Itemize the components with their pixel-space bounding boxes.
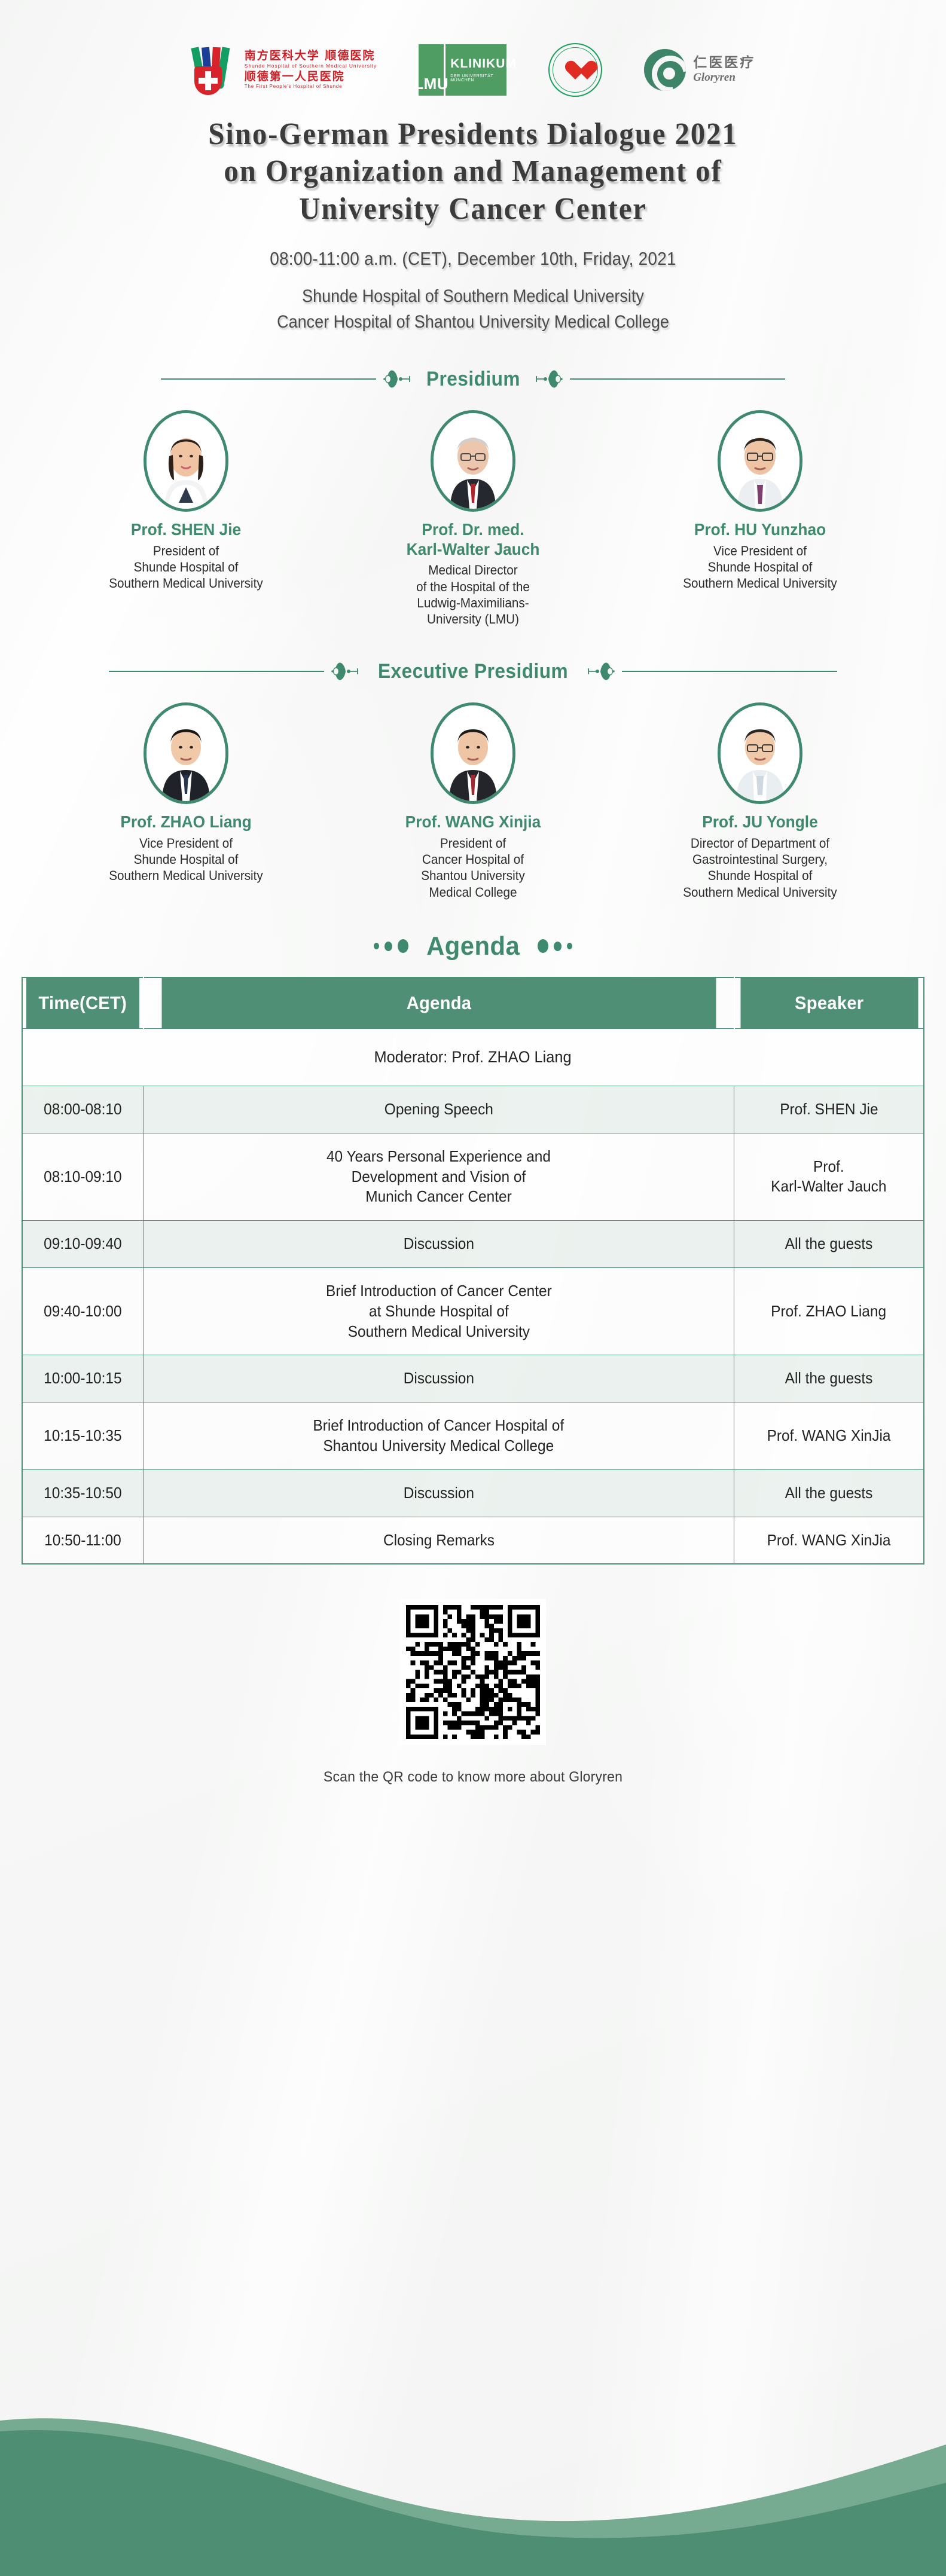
row-agenda: Opening Speech (384, 1099, 493, 1120)
dot-medium-icon (554, 942, 562, 951)
avatar (144, 702, 228, 804)
gloryren-logo: 仁医医疗 Gloryren (644, 49, 755, 91)
agenda-table-body: Moderator: Prof. ZHAO Liang 08:00-08:10 … (22, 1028, 924, 1564)
presidium-section-header: Presidium (57, 361, 889, 397)
agenda-table: Time(CET) Agenda Speaker Moderator: Prof… (22, 977, 924, 1564)
lmu-klinikum-logo: LMU KLINIKUM DER UNIVERSITÄT MÜNCHEN (419, 44, 506, 96)
cell-agenda: Discussion (144, 1355, 734, 1402)
row-agenda: Discussion (403, 1368, 474, 1389)
gloryren-cn-name: 仁医医疗 (693, 56, 755, 71)
row-speaker: Prof. WANG XinJia (767, 1530, 891, 1551)
row-agenda: Brief Introduction of Cancer Hospital of… (313, 1416, 564, 1456)
row-agenda: Closing Remarks (383, 1530, 494, 1551)
cell-agenda: Discussion (144, 1469, 734, 1517)
lmu-abbr: LMU (414, 75, 448, 96)
cell-speaker: Prof. WANG XinJia (734, 1517, 924, 1564)
cell-time: 09:10-09:40 (22, 1221, 144, 1268)
qr-area (0, 1599, 946, 1745)
venue-line-1: Shunde Hospital of Southern Medical Univ… (47, 284, 899, 310)
table-row: 08:10-09:10 40 Years Personal Experience… (22, 1133, 924, 1220)
logo-bar: 南方医科大学 顺德医院 Shunde Hospital of Southern … (0, 0, 946, 108)
person-role: President of Shunde Hospital of Southern… (57, 543, 315, 592)
table-row: 09:10-09:40 Discussion All the guests (22, 1221, 924, 1268)
row-time: 10:50-11:00 (44, 1530, 121, 1551)
qr-code-image (406, 1605, 540, 1739)
event-datetime: 08:00-11:00 a.m. (CET), December 10th, F… (47, 248, 899, 270)
divider-rule-left (109, 671, 324, 672)
table-row: 10:15-10:35 Brief Introduction of Cancer… (22, 1402, 924, 1470)
row-speaker: All the guests (785, 1234, 873, 1254)
row-speaker: Prof. WANG XinJia (767, 1426, 891, 1446)
scan-note: Scan the QR code to know more about Glor… (19, 1769, 927, 1786)
shunde-logo-en-line1: Shunde Hospital of Southern Medical Univ… (245, 63, 377, 69)
person-card: Prof. ZHAO Liang Vice President of Shund… (42, 702, 329, 884)
cell-speaker: Prof. ZHAO Liang (734, 1267, 924, 1355)
table-row: 10:35-10:50 Discussion All the guests (22, 1469, 924, 1517)
title-line-2: on Organization and Management of (79, 153, 867, 190)
divider-rule-right (622, 671, 837, 672)
cell-speaker: All the guests (734, 1355, 924, 1402)
cell-agenda: Closing Remarks (144, 1517, 734, 1564)
column-header-agenda: Agenda (161, 977, 716, 1029)
person-name: Prof. SHEN Jie (57, 520, 315, 539)
heart-icon (563, 58, 587, 82)
person-name: Prof. WANG Xinjia (344, 812, 602, 832)
cell-speaker: All the guests (734, 1221, 924, 1268)
person-role: Director of Department of Gastrointestin… (631, 835, 889, 900)
person-role: Vice President of Shunde Hospital of Sou… (57, 835, 315, 884)
executive-presidium-members: Prof. ZHAO Liang Vice President of Shund… (0, 702, 946, 900)
lmu-subtitle: DER UNIVERSITÄT MÜNCHEN (450, 74, 506, 82)
row-speaker: Prof. SHEN Jie (780, 1099, 878, 1120)
row-time: 10:00-10:15 (44, 1368, 121, 1389)
avatar (144, 410, 228, 512)
table-header-row: Time(CET) Agenda Speaker (22, 977, 924, 1029)
cell-time: 10:50-11:00 (22, 1517, 144, 1564)
shunde-emblem-icon (191, 45, 236, 95)
row-agenda: Brief Introduction of Cancer Center at S… (326, 1281, 552, 1342)
person-name: Prof. ZHAO Liang (57, 812, 315, 832)
row-agenda: 40 Years Personal Experience and Develop… (326, 1147, 551, 1207)
flourish-right-icon (533, 361, 570, 397)
person-name: Prof. HU Yunzhao (631, 520, 889, 539)
person-card: Prof. SHEN Jie President of Shunde Hospi… (42, 410, 329, 591)
moderator-cell: Moderator: Prof. ZHAO Liang (22, 1028, 924, 1086)
cell-agenda: Opening Speech (144, 1086, 734, 1133)
gloryren-en-name: Gloryren (693, 72, 755, 84)
column-header-speaker: Speaker (740, 977, 918, 1029)
lmu-klinikum-word: KLINIKUM (450, 57, 506, 70)
row-speaker: All the guests (785, 1368, 873, 1389)
shunde-logo-en-line2: The First People's Hospital of Shunde (245, 84, 377, 89)
flourish-left-icon (324, 653, 361, 689)
avatar (431, 702, 515, 804)
row-time: 10:35-10:50 (44, 1483, 121, 1504)
bottom-wave-decoration (0, 2361, 946, 2576)
cell-agenda: Brief Introduction of Cancer Center at S… (144, 1267, 734, 1355)
table-row: 09:40-10:00 Brief Introduction of Cancer… (22, 1267, 924, 1355)
venue-line-2: Cancer Hospital of Shantou University Me… (47, 310, 899, 335)
shunde-logo-cn-line1: 南方医科大学 顺德医院 (245, 50, 377, 62)
cell-speaker: Prof. Karl-Walter Jauch (734, 1133, 924, 1220)
dot-small-icon (374, 943, 379, 949)
person-name: Prof. Dr. med. Karl-Walter Jauch (344, 520, 602, 559)
person-card: Prof. JU Yongle Director of Department o… (617, 702, 904, 900)
person-card: Prof. WANG Xinjia President of Cancer Ho… (329, 702, 617, 900)
cell-time: 08:00-08:10 (22, 1086, 144, 1133)
dot-large-icon (538, 939, 548, 953)
row-agenda: Discussion (403, 1483, 474, 1504)
moderator-text: Moderator: Prof. ZHAO Liang (374, 1047, 572, 1068)
flourish-left-icon (376, 361, 413, 397)
avatar (718, 410, 802, 512)
person-card: Prof. HU Yunzhao Vice President of Shund… (617, 410, 904, 591)
row-speaker: All the guests (785, 1483, 873, 1504)
shantou-seal-icon (548, 43, 602, 97)
title-line-1: Sino-German Presidents Dialogue 2021 (79, 116, 867, 153)
event-venues: Shunde Hospital of Southern Medical Univ… (47, 284, 899, 335)
cell-speaker: Prof. SHEN Jie (734, 1086, 924, 1133)
row-speaker: Prof. Karl-Walter Jauch (771, 1157, 886, 1197)
agenda-heading: Agenda (420, 931, 527, 961)
person-role: Medical Director of the Hospital of the … (344, 562, 602, 627)
dot-large-icon (398, 939, 408, 953)
shantou-cancer-hospital-logo (548, 43, 602, 97)
dot-medium-icon (384, 942, 392, 951)
row-time: 08:10-09:10 (44, 1167, 121, 1187)
dots-left (374, 939, 408, 953)
row-agenda: Discussion (403, 1234, 474, 1254)
row-time: 10:15-10:35 (44, 1426, 121, 1446)
dot-small-icon (567, 943, 572, 949)
cell-time: 09:40-10:00 (22, 1267, 144, 1355)
cell-agenda: 40 Years Personal Experience and Develop… (144, 1133, 734, 1220)
cell-speaker: All the guests (734, 1469, 924, 1517)
person-name: Prof. JU Yongle (631, 812, 889, 832)
gloryren-swirl-icon (644, 49, 686, 91)
agenda-section-header: Agenda (0, 931, 946, 961)
agenda-table-wrap: Time(CET) Agenda Speaker Moderator: Prof… (22, 977, 924, 1564)
presidium-heading: Presidium (417, 368, 529, 391)
avatar (718, 702, 802, 804)
person-card: Prof. Dr. med. Karl-Walter Jauch Medical… (329, 410, 617, 627)
cell-speaker: Prof. WANG XinJia (734, 1402, 924, 1470)
title-line-3: University Cancer Center (79, 191, 867, 228)
row-time: 09:10-09:40 (44, 1234, 121, 1254)
column-header-time: Time(CET) (26, 977, 139, 1029)
cell-time: 10:15-10:35 (22, 1402, 144, 1470)
shunde-logo-cn-line2: 顺德第一人民医院 (245, 71, 377, 83)
dots-right (538, 939, 572, 953)
divider-rule-right (570, 378, 785, 380)
table-row: 10:50-11:00 Closing Remarks Prof. WANG X… (22, 1517, 924, 1564)
poster-title: Sino-German Presidents Dialogue 2021 on … (79, 116, 867, 228)
poster: 南方医科大学 顺德医院 Shunde Hospital of Southern … (0, 0, 946, 2576)
qr-code[interactable] (400, 1599, 546, 1745)
divider-rule-left (161, 378, 376, 380)
cell-agenda: Discussion (144, 1221, 734, 1268)
cell-time: 10:00-10:15 (22, 1355, 144, 1402)
person-role: Vice President of Shunde Hospital of Sou… (631, 543, 889, 592)
row-time: 09:40-10:00 (44, 1301, 121, 1322)
flourish-right-icon (585, 653, 622, 689)
cell-time: 08:10-09:10 (22, 1133, 144, 1220)
row-time: 08:00-08:10 (44, 1099, 121, 1120)
table-row: 08:00-08:10 Opening Speech Prof. SHEN Ji… (22, 1086, 924, 1133)
shunde-hospital-logo: 南方医科大学 顺德医院 Shunde Hospital of Southern … (191, 45, 377, 95)
table-row: 10:00-10:15 Discussion All the guests (22, 1355, 924, 1402)
cell-agenda: Brief Introduction of Cancer Hospital of… (144, 1402, 734, 1470)
cell-time: 10:35-10:50 (22, 1469, 144, 1517)
row-speaker: Prof. ZHAO Liang (771, 1301, 887, 1322)
presidium-members: Prof. SHEN Jie President of Shunde Hospi… (0, 410, 946, 627)
avatar (431, 410, 515, 512)
moderator-row: Moderator: Prof. ZHAO Liang (22, 1028, 924, 1086)
person-role: President of Cancer Hospital of Shantou … (344, 835, 602, 900)
executive-presidium-heading: Executive Presidium (369, 660, 577, 683)
executive-presidium-section-header: Executive Presidium (57, 653, 889, 689)
